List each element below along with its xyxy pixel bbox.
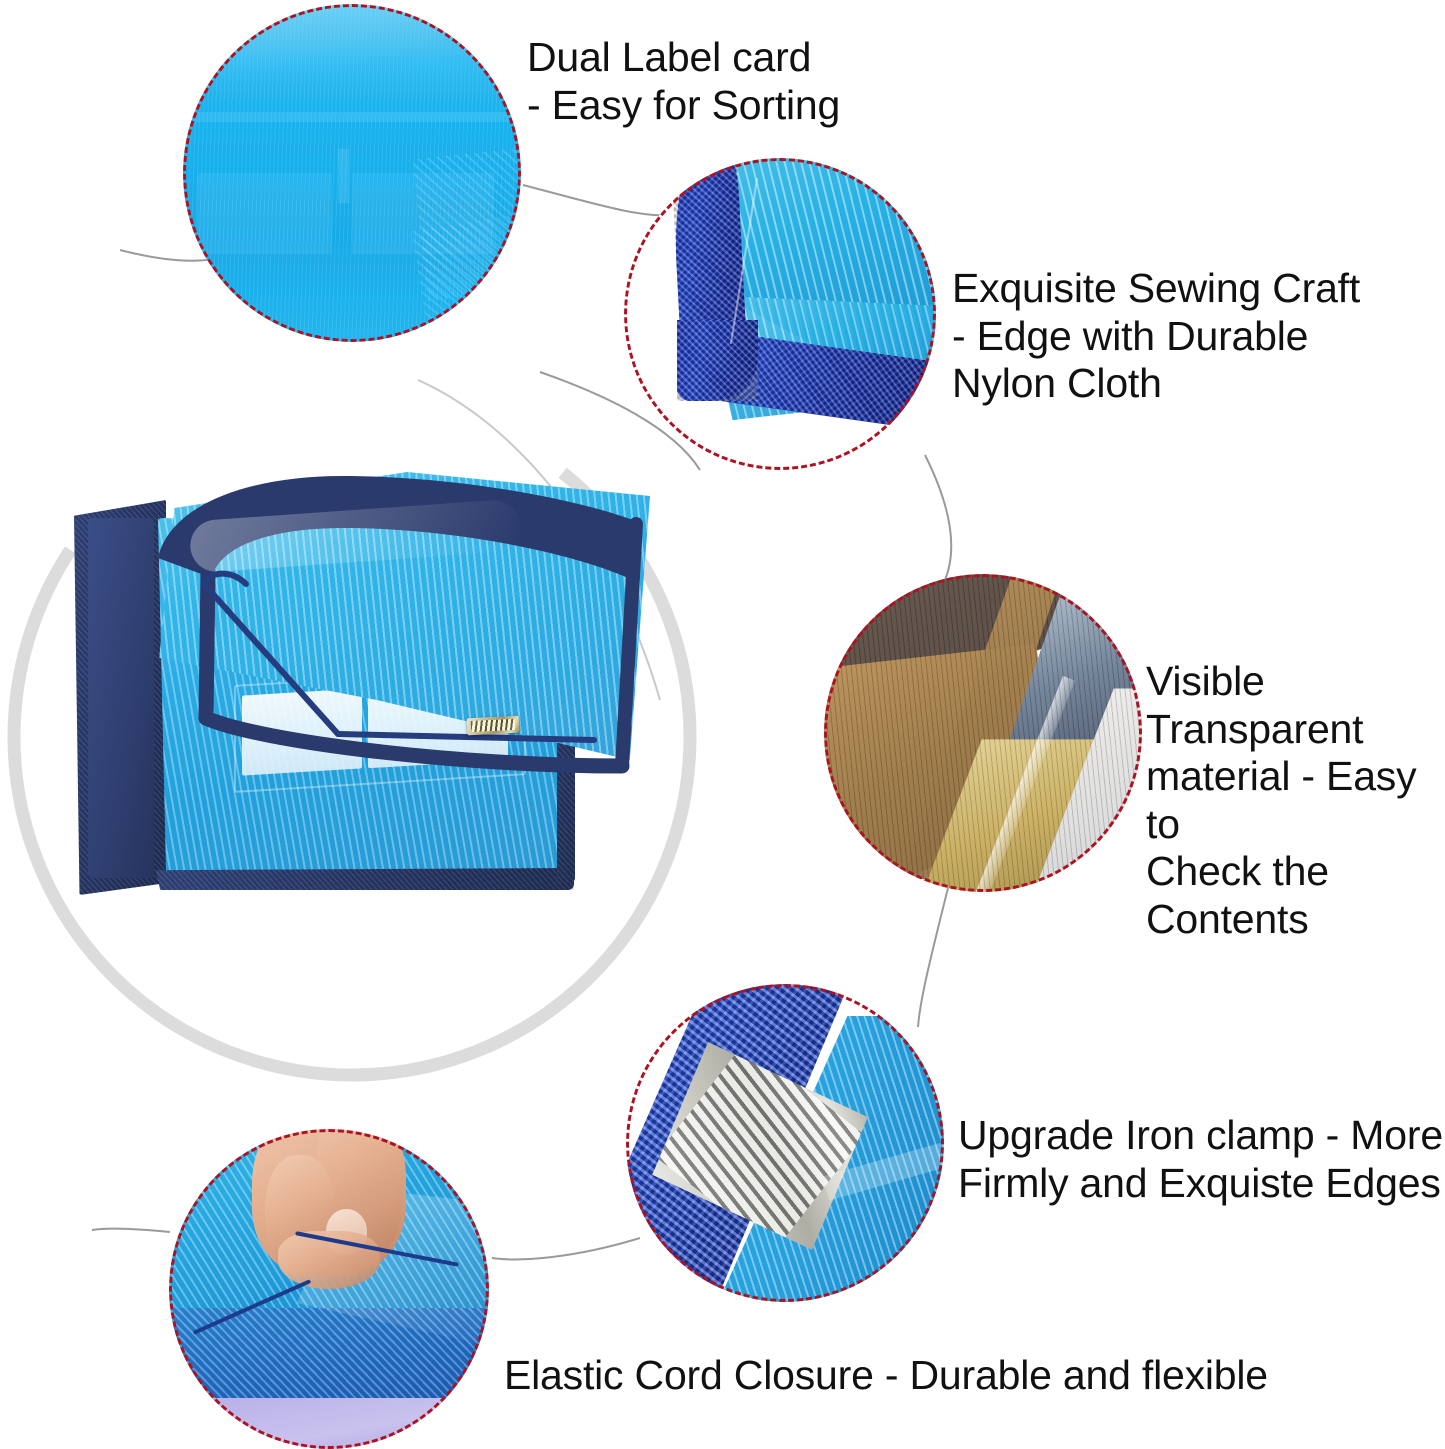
caption-upgrade-iron-clamp: Upgrade Iron clamp - More Firmly and Exq… bbox=[958, 1112, 1445, 1207]
art-hand-pulling-elastic-cord bbox=[169, 1129, 489, 1449]
caption-elastic-cord-closure: Elastic Cord Closure - Durable and flexi… bbox=[504, 1352, 1364, 1400]
art-contents-through-material bbox=[824, 574, 1142, 892]
iron-clamp-on-product bbox=[467, 716, 520, 736]
art-nylon-binding-corner bbox=[624, 158, 936, 470]
caption-dual-label-card: Dual Label card - Easy for Sorting bbox=[527, 34, 927, 129]
caption-visible-transparent-material: Visible Transparent material - Easy to C… bbox=[1146, 658, 1445, 943]
callout-elastic-cord-closure[interactable] bbox=[169, 1129, 489, 1449]
connector-label-to-sewing bbox=[523, 185, 675, 215]
elastic-cord-on-product bbox=[190, 550, 610, 760]
callout-exquisite-sewing-craft[interactable] bbox=[624, 158, 936, 470]
callout-visible-transparent-material[interactable] bbox=[824, 574, 1142, 892]
folder-bottom-binding bbox=[156, 868, 574, 890]
callout-dual-label-card[interactable] bbox=[183, 4, 521, 342]
product-image-file-folder bbox=[70, 470, 680, 940]
infographic-canvas: Dual Label card - Easy for Sorting Exqui… bbox=[0, 0, 1445, 1447]
connector-sewing-to-transparent bbox=[925, 455, 951, 580]
connector-cord-tail bbox=[92, 1229, 170, 1232]
art-iron-clamp-on-webbing bbox=[626, 984, 944, 1302]
callout-upgrade-iron-clamp[interactable] bbox=[626, 984, 944, 1302]
connector-transparent-to-clamp bbox=[918, 888, 948, 1027]
connector-clamp-to-cord bbox=[492, 1238, 640, 1259]
caption-exquisite-sewing-craft: Exquisite Sewing Craft - Edge with Durab… bbox=[952, 265, 1422, 408]
art-label-card-material bbox=[183, 4, 521, 342]
